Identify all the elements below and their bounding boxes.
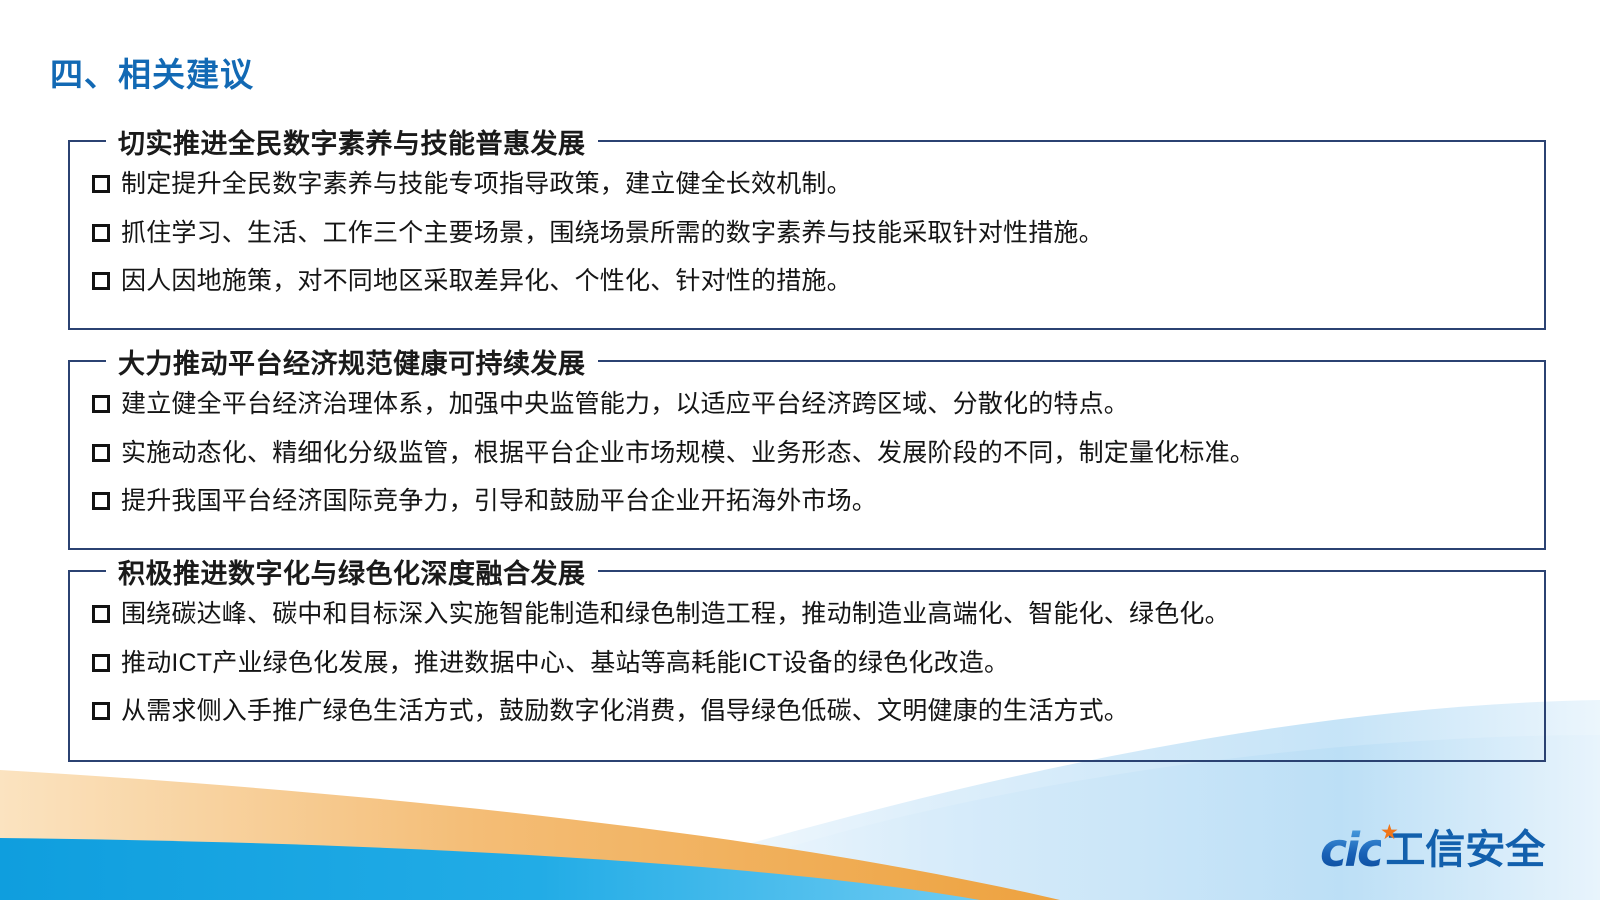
bullet-item: 推动ICT产业绿色化发展，推进数据中心、基站等高耗能ICT设备的绿色化改造。 <box>80 647 1534 680</box>
square-bullet-icon <box>92 444 110 462</box>
bullet-text: 实施动态化、精细化分级监管，根据平台企业市场规模、业务形态、发展阶段的不同，制定… <box>121 437 1534 470</box>
bullet-item: 实施动态化、精细化分级监管，根据平台企业市场规模、业务形态、发展阶段的不同，制定… <box>80 437 1534 470</box>
bullet-item: 抓住学习、生活、工作三个主要场景，围绕场景所需的数字素养与技能采取针对性措施。 <box>80 217 1534 250</box>
bullet-text: 制定提升全民数字素养与技能专项指导政策，建立健全长效机制。 <box>121 168 1534 201</box>
bullet-item: 围绕碳达峰、碳中和目标深入实施智能制造和绿色制造工程，推动制造业高端化、智能化、… <box>80 598 1534 631</box>
bullet-text: 从需求侧入手推广绿色生活方式，鼓励数字化消费，倡导绿色低碳、文明健康的生活方式。 <box>121 695 1534 728</box>
square-bullet-icon <box>92 175 110 193</box>
cic-logomark: cic <box>1320 827 1381 873</box>
square-bullet-icon <box>92 654 110 672</box>
section-body: 围绕碳达峰、碳中和目标深入实施智能制造和绿色制造工程，推动制造业高端化、智能化、… <box>70 572 1544 744</box>
page-title: 四、相关建议 <box>50 48 254 96</box>
square-bullet-icon <box>92 224 110 242</box>
bullet-text: 围绕碳达峰、碳中和目标深入实施智能制造和绿色制造工程，推动制造业高端化、智能化、… <box>121 598 1534 631</box>
square-bullet-icon <box>92 492 110 510</box>
brand-name-label: 工信安全 <box>1385 830 1545 870</box>
bullet-text: 因人因地施策，对不同地区采取差异化、个性化、针对性的措施。 <box>121 265 1534 298</box>
section-heading: 积极推进数字化与绿色化深度融合发展 <box>106 552 598 591</box>
square-bullet-icon <box>92 395 110 413</box>
slide-canvas: 四、相关建议 切实推进全民数字素养与技能普惠发展 制定提升全民数字素养与技能专项… <box>0 0 1600 900</box>
recommendation-section: 大力推动平台经济规范健康可持续发展 建立健全平台经济治理体系，加强中央监管能力，… <box>68 360 1546 550</box>
square-bullet-icon <box>92 605 110 623</box>
bullet-text: 提升我国平台经济国际竞争力，引导和鼓励平台企业开拓海外市场。 <box>121 485 1534 518</box>
orange-band <box>0 770 1060 900</box>
bullet-item: 从需求侧入手推广绿色生活方式，鼓励数字化消费，倡导绿色低碳、文明健康的生活方式。 <box>80 695 1534 728</box>
recommendation-section: 积极推进数字化与绿色化深度融合发展 围绕碳达峰、碳中和目标深入实施智能制造和绿色… <box>68 570 1546 762</box>
blue-wave <box>0 838 980 900</box>
bullet-text: 建立健全平台经济治理体系，加强中央监管能力，以适应平台经济跨区域、分散化的特点。 <box>121 388 1534 421</box>
bullet-item: 制定提升全民数字素养与技能专项指导政策，建立健全长效机制。 <box>80 168 1534 201</box>
brand-logo: cic ★ 工信安全 <box>1320 822 1545 878</box>
section-body: 制定提升全民数字素养与技能专项指导政策，建立健全长效机制。 抓住学习、生活、工作… <box>70 142 1544 314</box>
section-heading: 切实推进全民数字素养与技能普惠发展 <box>106 122 598 161</box>
section-body: 建立健全平台经济治理体系，加强中央监管能力，以适应平台经济跨区域、分散化的特点。… <box>70 362 1544 534</box>
bullet-item: 因人因地施策，对不同地区采取差异化、个性化、针对性的措施。 <box>80 265 1534 298</box>
square-bullet-icon <box>92 702 110 720</box>
square-bullet-icon <box>92 272 110 290</box>
section-heading: 大力推动平台经济规范健康可持续发展 <box>106 342 598 381</box>
bullet-item: 建立健全平台经济治理体系，加强中央监管能力，以适应平台经济跨区域、分散化的特点。 <box>80 388 1534 421</box>
bullet-text: 抓住学习、生活、工作三个主要场景，围绕场景所需的数字素养与技能采取针对性措施。 <box>121 217 1534 250</box>
bullet-item: 提升我国平台经济国际竞争力，引导和鼓励平台企业开拓海外市场。 <box>80 485 1534 518</box>
recommendation-section: 切实推进全民数字素养与技能普惠发展 制定提升全民数字素养与技能专项指导政策，建立… <box>68 140 1546 330</box>
bullet-text: 推动ICT产业绿色化发展，推进数据中心、基站等高耗能ICT设备的绿色化改造。 <box>121 647 1534 680</box>
